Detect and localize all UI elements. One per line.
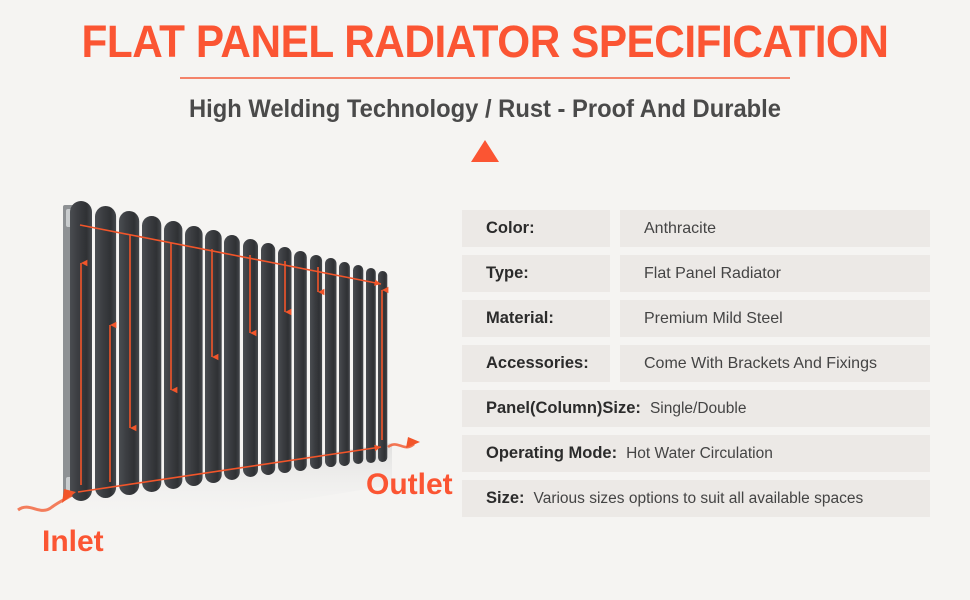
spec-label-cell: Type: [462, 255, 610, 292]
spec-value-cell: Come With Brackets And Fixings [620, 345, 930, 382]
table-row: Color: Anthracite [462, 210, 930, 247]
spec-label: Color: [486, 219, 535, 238]
table-row: Type: Flat Panel Radiator [462, 255, 930, 292]
spec-value: Anthracite [644, 220, 716, 238]
spec-value: Single/Double [650, 400, 747, 418]
spec-value: Hot Water Circulation [626, 445, 773, 463]
outlet-label: Outlet [366, 468, 453, 502]
specification-table: Color: Anthracite Type: Flat Panel Radia… [462, 210, 930, 525]
cell-gap [610, 300, 620, 337]
spec-label: Size: [486, 489, 525, 508]
spec-value: Come With Brackets And Fixings [644, 355, 877, 373]
spec-label: Accessories: [486, 354, 589, 373]
spec-value-cell: Anthracite [620, 210, 930, 247]
table-row: Material: Premium Mild Steel [462, 300, 930, 337]
inlet-arrow-icon [18, 489, 76, 510]
table-row: Panel(Column)Size: Single/Double [462, 390, 930, 427]
spec-label: Type: [486, 264, 529, 283]
spec-label-cell: Material: [462, 300, 610, 337]
title-divider [180, 77, 790, 79]
spec-label: Operating Mode: [486, 444, 617, 463]
product-illustration: Inlet Outlet [0, 185, 455, 585]
triangle-up-icon [471, 140, 499, 162]
spec-label-cell: Accessories: [462, 345, 610, 382]
spec-label: Panel(Column)Size: [486, 399, 641, 418]
page-title: FLAT PANEL RADIATOR SPECIFICATION [29, 18, 941, 65]
cell-gap [610, 255, 620, 292]
table-row: Accessories: Come With Brackets And Fixi… [462, 345, 930, 382]
spec-value-cell: Premium Mild Steel [620, 300, 930, 337]
table-row: Size: Various sizes options to suit all … [462, 480, 930, 517]
spec-value-cell: Flat Panel Radiator [620, 255, 930, 292]
table-row: Operating Mode: Hot Water Circulation [462, 435, 930, 472]
cell-gap [610, 210, 620, 247]
page-subtitle: High Welding Technology / Rust - Proof A… [24, 95, 946, 124]
outlet-arrow-icon [388, 437, 420, 448]
spec-label-cell: Color: [462, 210, 610, 247]
spec-value: Various sizes options to suit all availa… [534, 490, 864, 508]
page-header: FLAT PANEL RADIATOR SPECIFICATION High W… [0, 0, 970, 162]
spec-label: Material: [486, 309, 554, 328]
radiator-columns [70, 201, 387, 501]
inlet-label: Inlet [42, 525, 104, 559]
spec-value: Flat Panel Radiator [644, 265, 781, 283]
spec-value: Premium Mild Steel [644, 310, 783, 328]
cell-gap [610, 345, 620, 382]
